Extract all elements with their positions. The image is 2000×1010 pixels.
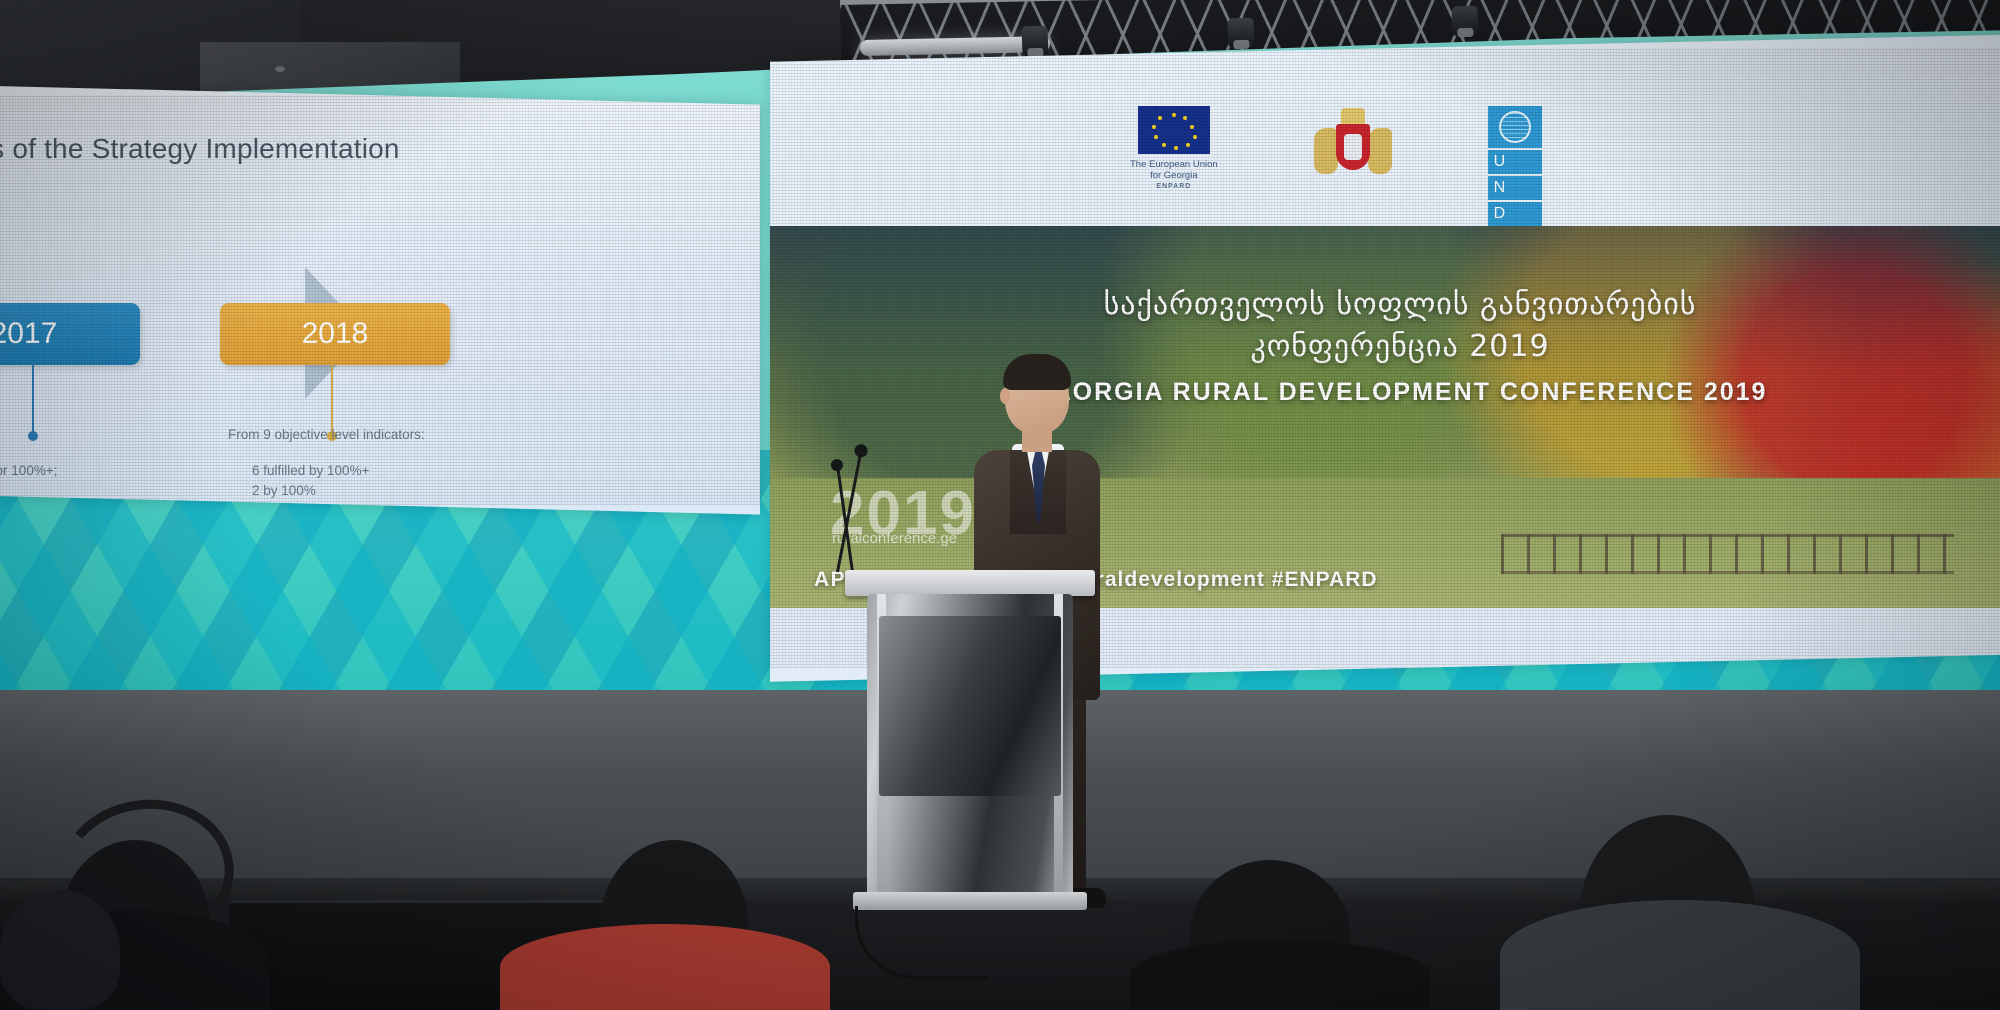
year-ribbon-2017: 2017 — [0, 303, 140, 365]
undp-letter: U — [1488, 150, 1542, 174]
undp-letter: N — [1488, 176, 1542, 200]
audience-head — [0, 890, 120, 1010]
un-emblem-icon — [1488, 106, 1542, 148]
audience-shoulders — [1500, 900, 1860, 1010]
eu-caption-line2: for Georgia — [1150, 170, 1198, 181]
conference-title-georgian: საქართველოს სოფლის განვითარების კონფერენ… — [770, 284, 2000, 368]
conference-title-georgian-line2: კონფერენცია 2019 — [770, 326, 2000, 368]
left-slide-column-2018: From 9 objective level indicators: 6 ful… — [228, 425, 558, 515]
screenshot-root: ults of the Strategy Implementation 2017… — [0, 0, 2000, 1010]
eu-logo-caption: The European Union for Georgia ENPARD — [1130, 159, 1218, 192]
audience-shoulders — [500, 924, 830, 1010]
left-slide-title: ults of the Strategy Implementation — [0, 133, 400, 165]
column-2018-heading: From 9 objective level indicators: — [228, 425, 558, 445]
column-2017-bullet: d by 100% or 100%+; — [0, 461, 224, 481]
left-presentation-slide: ults of the Strategy Implementation 2017… — [0, 85, 760, 514]
column-2018-bullet: 6 fulfilled by 100%+ — [252, 461, 558, 481]
conference-title-georgian-line1: საქართველოს სოფლის განვითარების — [770, 284, 2000, 326]
eu-caption-line1: The European Union — [1130, 159, 1218, 170]
year-ribbon-2018-label: 2018 — [302, 317, 369, 351]
year-ribbon-2018: 2018 — [220, 303, 450, 365]
eu-flag-icon — [1138, 106, 1210, 154]
georgia-coat-of-arms-icon — [1310, 106, 1396, 190]
conference-title-english: GEORGIA RURAL DEVELOPMENT CONFERENCE 201… — [770, 378, 2000, 407]
european-union-logo: The European Union for Georgia ENPARD — [1130, 106, 1218, 192]
eu-caption-line3: ENPARD — [1130, 181, 1218, 192]
undp-letter: D — [1488, 202, 1542, 226]
podium-front-panel — [879, 616, 1061, 796]
podium-top — [845, 570, 1095, 596]
column-2018-bullet: 2 by 100% — [252, 481, 558, 501]
podium — [845, 570, 1095, 930]
audience-shoulders — [1130, 940, 1430, 1010]
year-ribbon-2017-label: 2017 — [0, 317, 57, 351]
column-2017-heading: level indicators: — [0, 425, 224, 445]
conference-website: ruralconference.ge — [832, 530, 957, 547]
